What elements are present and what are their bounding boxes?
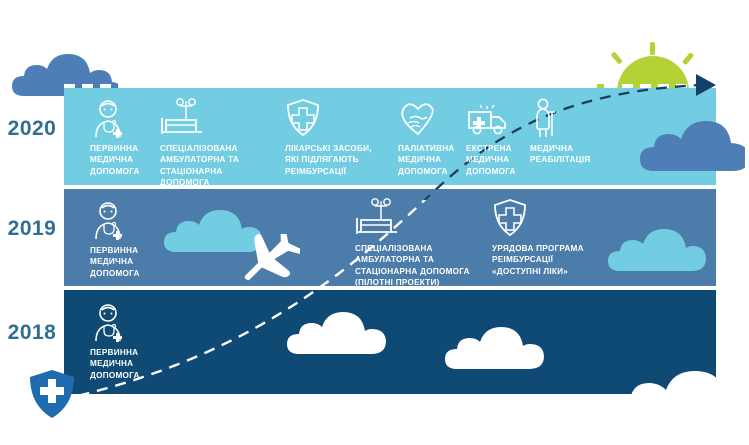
doctor-icon bbox=[90, 200, 160, 240]
ambulance-icon bbox=[466, 98, 534, 138]
item-2019-specialized-care-pilot[interactable]: СПЕЦІАЛІЗОВАНА АМБУЛАТОРНА ТА СТАЦІОНАРН… bbox=[355, 198, 487, 289]
rehabilitation-icon bbox=[530, 98, 600, 138]
item-label: ПЕРВИННА МЕДИЧНА ДОПОМОГА bbox=[90, 245, 160, 279]
item-label: ПАЛІАТИВНА МЕДИЧНА ДОПОМОГА bbox=[398, 143, 468, 177]
hospital-bed-icon bbox=[355, 198, 487, 238]
band-separator-top bbox=[64, 84, 716, 88]
item-label: ЕКСТРЕНА МЕДИЧНА ДОПОМОГА bbox=[466, 143, 534, 177]
band-2018 bbox=[64, 290, 716, 394]
item-label: СПЕЦІАЛІЗОВАНА АМБУЛАТОРНА ТА СТАЦІОНАРН… bbox=[355, 243, 487, 289]
item-2020-specialized-care[interactable]: СПЕЦІАЛІЗОВАНА АМБУЛАТОРНА ТА СТАЦІОНАРН… bbox=[160, 98, 272, 189]
year-label-2019: 2019 bbox=[0, 218, 64, 239]
infographic-root: 2020 2019 2018 ПЕРВИННА МЕДИЧНА ДОПОМОГА bbox=[0, 0, 749, 445]
item-2019-primary-care[interactable]: ПЕРВИННА МЕДИЧНА ДОПОМОГА bbox=[90, 200, 160, 279]
item-2020-emergency-care[interactable]: ЕКСТРЕНА МЕДИЧНА ДОПОМОГА bbox=[466, 98, 534, 177]
item-2018-primary-care[interactable]: ПЕРВИННА МЕДИЧНА ДОПОМОГА bbox=[90, 302, 160, 381]
item-label: МЕДИЧНА РЕАБІЛІТАЦІЯ bbox=[530, 143, 600, 166]
item-label: ЛІКАРСЬКІ ЗАСОБИ, ЯКІ ПІДЛЯГАЮТЬ РЕІМБУР… bbox=[285, 143, 385, 177]
year-label-2018: 2018 bbox=[0, 322, 64, 343]
item-2020-reimbursed-drugs[interactable]: ЛІКАРСЬКІ ЗАСОБИ, ЯКІ ПІДЛЯГАЮТЬ РЕІМБУР… bbox=[285, 98, 385, 177]
item-label: УРЯДОВА ПРОГРАМА РЕІМБУРСАЦІЇ «ДОСТУПНІ … bbox=[492, 243, 607, 277]
shield-cross-icon bbox=[285, 98, 385, 138]
item-2020-primary-care[interactable]: ПЕРВИННА МЕДИЧНА ДОПОМОГА bbox=[90, 98, 160, 177]
item-2020-rehabilitation[interactable]: МЕДИЧНА РЕАБІЛІТАЦІЯ bbox=[530, 98, 600, 166]
item-2020-palliative-care[interactable]: ПАЛІАТИВНА МЕДИЧНА ДОПОМОГА bbox=[398, 98, 468, 177]
hospital-bed-icon bbox=[160, 98, 272, 138]
item-2019-reimbursement-program[interactable]: УРЯДОВА ПРОГРАМА РЕІМБУРСАЦІЇ «ДОСТУПНІ … bbox=[492, 198, 607, 277]
doctor-icon bbox=[90, 302, 160, 342]
doctor-icon bbox=[90, 98, 160, 138]
year-label-2020: 2020 bbox=[0, 118, 64, 139]
heart-hands-icon bbox=[398, 98, 468, 138]
item-label: ПЕРВИННА МЕДИЧНА ДОПОМОГА bbox=[90, 347, 160, 381]
item-label: ПЕРВИННА МЕДИЧНА ДОПОМОГА bbox=[90, 143, 160, 177]
shield-cross-icon bbox=[492, 198, 607, 238]
item-label: СПЕЦІАЛІЗОВАНА АМБУЛАТОРНА ТА СТАЦІОНАРН… bbox=[160, 143, 272, 189]
